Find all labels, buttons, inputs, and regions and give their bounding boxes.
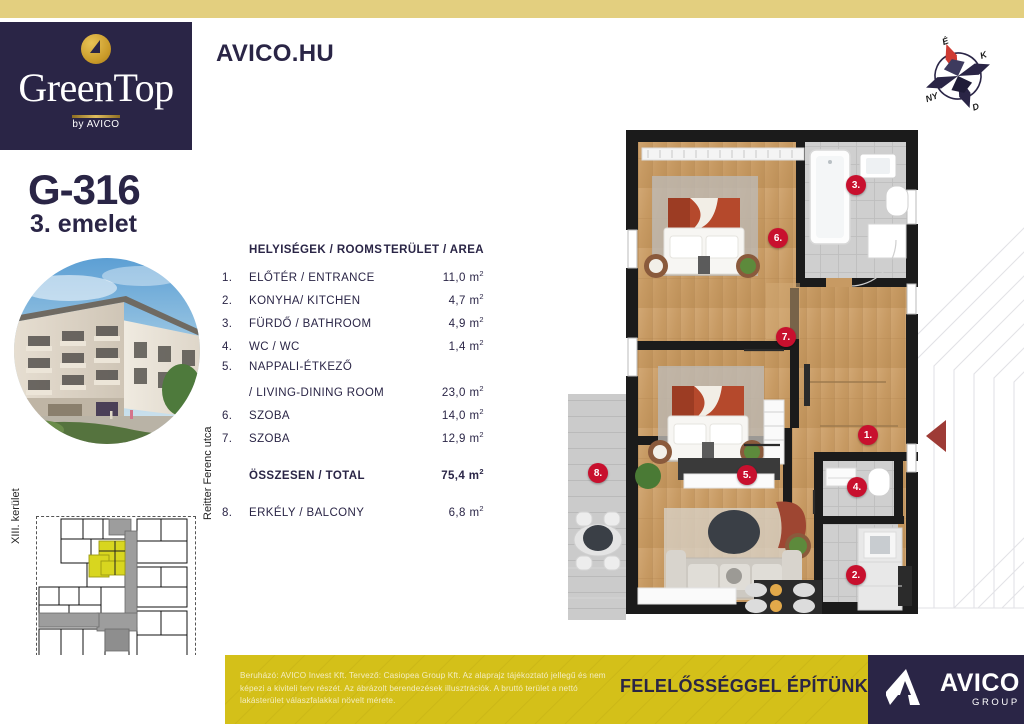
row-number: 4.: [222, 341, 249, 353]
row-number: 8.: [222, 507, 249, 519]
gold-circle-icon: [81, 34, 111, 64]
site-url-heading: AVICO.HU: [216, 40, 334, 68]
row-name: FÜRDŐ / BATHROOM: [249, 318, 449, 330]
building-render-photo: [14, 258, 200, 444]
table-row: / LIVING-DINING ROOM 23,0 m2: [222, 384, 484, 407]
row-name: ERKÉLY / BALCONY: [249, 507, 449, 519]
row-area: 11,0 m2: [443, 269, 484, 284]
table-row-balcony: 8. ERKÉLY / BALCONY 6,8 m2: [222, 504, 484, 527]
avico-group-name: AVICO: [940, 671, 1020, 696]
compass-west: NY: [924, 90, 940, 104]
plan-marker-1[interactable]: 1.: [858, 425, 878, 445]
col-rooms-label: HELYISÉGEK / ROOMS: [249, 244, 382, 256]
site-plan-street-right: Reitter Ferenc utca: [202, 426, 214, 520]
entrance-arrow-icon: [926, 420, 946, 452]
room-area-table: HELYISÉGEK / ROOMS TERÜLET / AREA 1. ELŐ…: [222, 244, 484, 527]
row-area: 4,7 m2: [449, 292, 484, 307]
row-area: 23,0 m2: [442, 384, 484, 399]
table-row: 6. SZOBA 14,0 m2: [222, 407, 484, 430]
row-area: 14,0 m2: [442, 407, 484, 422]
table-row: 5. NAPPALI-ÉTKEZŐ: [222, 361, 484, 384]
table-row: 1. ELŐTÉR / ENTRANCE 11,0 m2: [222, 269, 484, 292]
table-row: 4. WC / WC 1,4 m2: [222, 338, 484, 361]
plan-marker-8[interactable]: 8.: [588, 463, 608, 483]
row-name: SZOBA: [249, 433, 442, 445]
plan-marker-4[interactable]: 4.: [847, 477, 867, 497]
row-number: 1.: [222, 272, 249, 284]
site-plan-district-label: XIII. kerület: [10, 488, 22, 544]
row-name: KONYHA/ KITCHEN: [249, 295, 449, 307]
compass-rose: É K D NY: [918, 36, 998, 116]
table-header: HELYISÉGEK / ROOMS TERÜLET / AREA: [222, 244, 484, 269]
row-name: WC / WC: [249, 341, 449, 353]
row-area: 12,9 m2: [442, 430, 484, 445]
footer-left-spacer: [0, 655, 225, 724]
table-row: 3. FÜRDŐ / BATHROOM 4,9 m2: [222, 315, 484, 338]
table-row: 7. SZOBA 12,9 m2: [222, 430, 484, 453]
row-number: 7.: [222, 433, 249, 445]
top-accent-band: [0, 0, 1024, 18]
total-label: ÖSSZESEN / TOTAL: [249, 470, 441, 482]
greentop-logo: GreenTop by AVICO: [0, 22, 192, 150]
row-number: 2.: [222, 295, 249, 307]
row-number: 5.: [222, 361, 249, 373]
logo-wordmark: GreenTop: [0, 64, 192, 111]
compass-south: D: [971, 101, 981, 113]
row-name: ELŐTÉR / ENTRANCE: [249, 272, 443, 284]
plan-marker-7[interactable]: 7.: [776, 327, 796, 347]
plan-marker-6[interactable]: 6.: [768, 228, 788, 248]
row-name: / LIVING-DINING ROOM: [249, 387, 442, 399]
row-area: 6,8 m2: [449, 504, 484, 519]
col-area-label: TERÜLET / AREA: [384, 244, 484, 256]
compass-north: É: [941, 36, 951, 47]
floor-label: 3. emelet: [30, 210, 137, 239]
site-plan-frame: [36, 516, 196, 666]
plan-marker-5[interactable]: 5.: [737, 465, 757, 485]
table-total-row: ÖSSZESEN / TOTAL 75,4 m2: [222, 467, 484, 490]
floor-plan: [568, 128, 924, 620]
footer-tagline: FELELŐSSÉGGEL ÉPÍTÜNK: [620, 676, 868, 697]
logo-divider: [72, 115, 120, 118]
row-area: 4,9 m2: [449, 315, 484, 330]
total-area: 75,4 m2: [441, 467, 484, 482]
compass-east: K: [979, 49, 990, 61]
row-area: 1,4 m2: [449, 338, 484, 353]
row-number: 3.: [222, 318, 249, 330]
row-name: SZOBA: [249, 410, 442, 422]
row-number: 6.: [222, 410, 249, 422]
table-row: 2. KONYHA/ KITCHEN 4,7 m2: [222, 292, 484, 315]
unit-code: G-316: [28, 166, 140, 214]
avico-group-sub: GROUP: [940, 698, 1020, 708]
plan-marker-2[interactable]: 2.: [846, 565, 866, 585]
row-name: NAPPALI-ÉTKEZŐ: [249, 361, 484, 373]
plan-marker-3[interactable]: 3.: [846, 175, 866, 195]
footer-disclaimer: Beruházó: AVICO Invest Kft. Tervező: Cas…: [240, 670, 610, 708]
logo-byline: by AVICO: [0, 119, 192, 130]
avico-group-logo: AVICO GROUP: [868, 655, 1024, 724]
avico-a-mark-icon: [886, 667, 930, 712]
